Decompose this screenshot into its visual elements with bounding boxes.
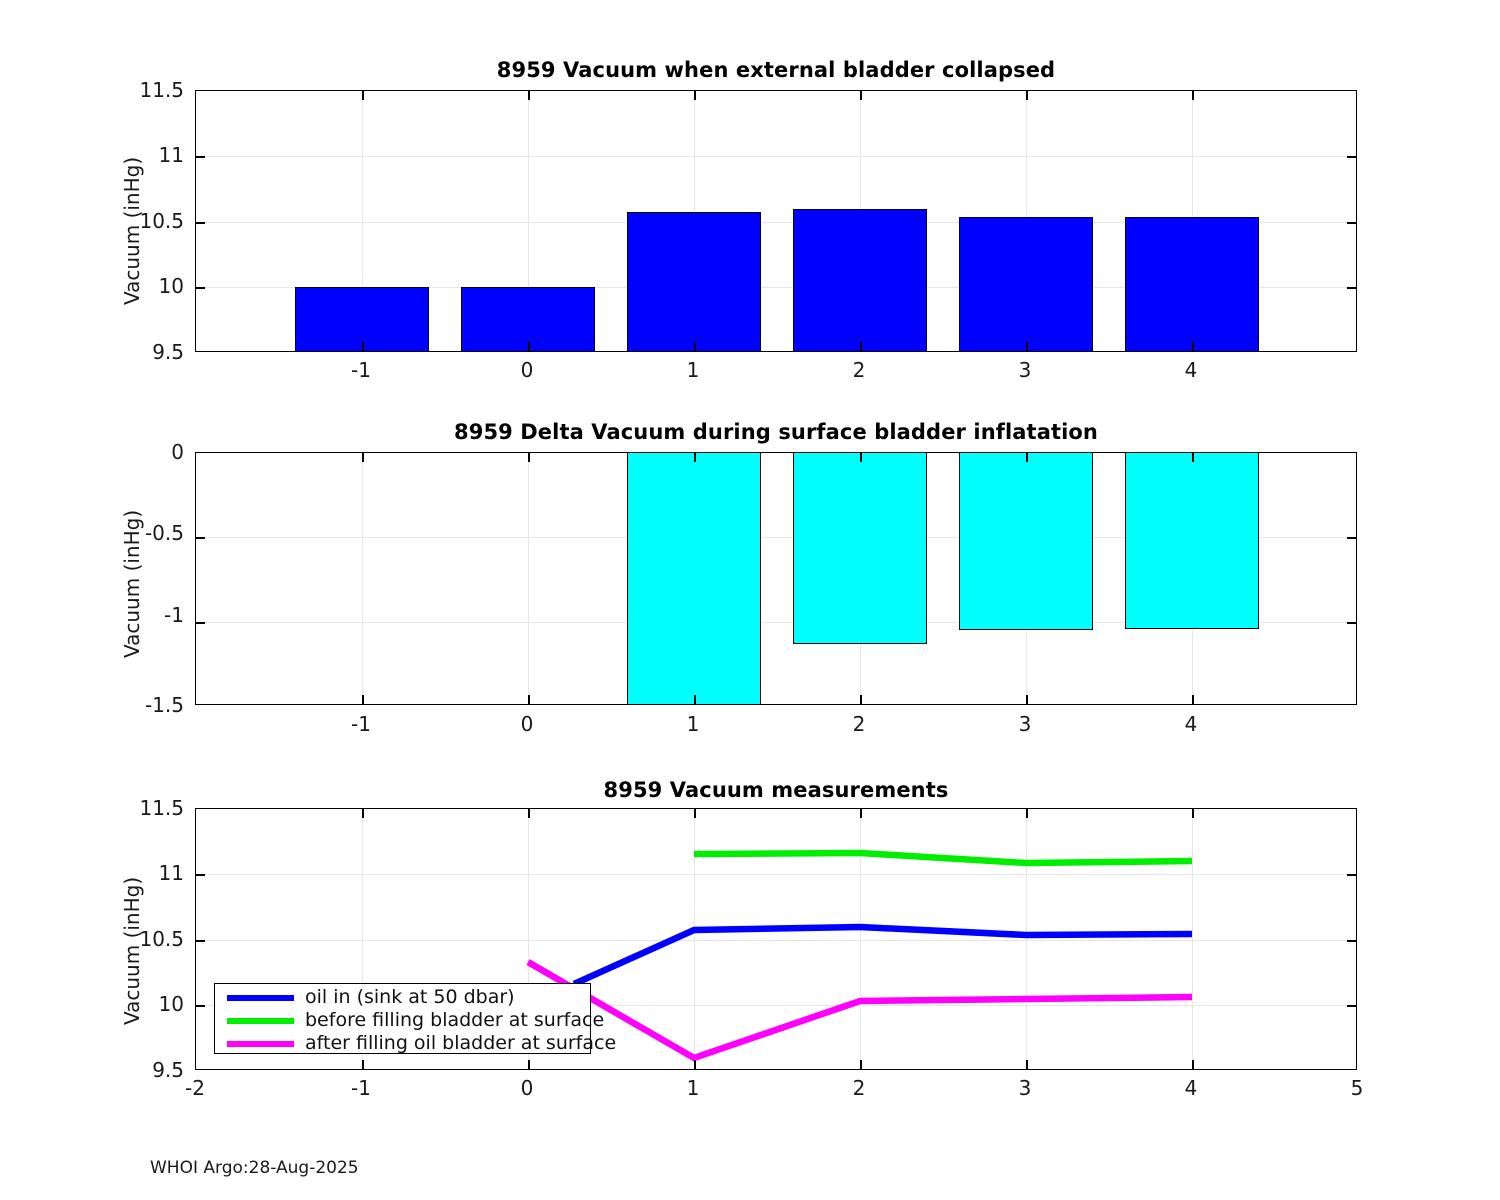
xtickmark-t-2 xyxy=(860,809,862,818)
xtickmark-t--1 xyxy=(362,809,364,818)
panel1-title: 8959 Vacuum when external bladder collap… xyxy=(195,58,1357,82)
delta-bar-2 xyxy=(793,452,927,644)
panel3-xtick-2: 2 xyxy=(819,1076,899,1100)
panel1-ytick-10.5: 10.5 xyxy=(110,209,184,233)
delta-bar-1 xyxy=(627,452,761,705)
panel1-ytick-9.5: 9.5 xyxy=(110,340,184,364)
xtickmark-t--1 xyxy=(362,91,364,100)
panel3-xtick-0: 0 xyxy=(487,1076,567,1100)
ytickmark--0.5 xyxy=(196,537,205,539)
ytickmark-11 xyxy=(196,156,205,158)
xtickmark-1 xyxy=(694,1060,696,1069)
series-magenta-after-filling xyxy=(528,962,1192,1058)
legend-swatch-magenta xyxy=(227,1041,294,1047)
xtickmark-t-0 xyxy=(528,453,530,462)
panel2-xtick-3: 3 xyxy=(985,712,1065,736)
bar-3 xyxy=(959,217,1093,352)
xtickmark-t-4 xyxy=(1192,91,1194,100)
panel2-ytick-0: 0 xyxy=(110,440,184,464)
ytickmark-r--0.5 xyxy=(1347,537,1356,539)
panel3-ytick-11.5: 11.5 xyxy=(110,796,184,820)
legend-label-after-filling: after filling oil bladder at surface xyxy=(305,1032,616,1055)
xtickmark-t-4 xyxy=(1192,453,1194,462)
panel3-ytick-10: 10 xyxy=(110,992,184,1016)
xtickmark--1 xyxy=(362,695,364,704)
xtickmark-t-0 xyxy=(528,809,530,818)
panel1-xtick-3: 3 xyxy=(985,358,1065,382)
gridline-v-0 xyxy=(528,453,529,704)
panel3-xtick-1: 1 xyxy=(653,1076,733,1100)
legend-swatch-blue xyxy=(227,995,294,1001)
bar-2 xyxy=(793,209,927,352)
legend-item-before-filling[interactable]: before filling bladder at surface xyxy=(215,1009,590,1032)
xtickmark-t-0 xyxy=(528,91,530,100)
panel2-xtick-1: 1 xyxy=(653,712,733,736)
xtickmark-4 xyxy=(1192,342,1194,351)
panel2-xtick-2: 2 xyxy=(819,712,899,736)
delta-bar-3 xyxy=(959,452,1093,630)
xtickmark--1 xyxy=(362,1060,364,1069)
legend-swatch-green xyxy=(227,1018,294,1024)
ytickmark-10 xyxy=(196,287,205,289)
series-blue-oil-in xyxy=(574,927,1192,984)
xtickmark-t-1 xyxy=(694,91,696,100)
xtickmark-t-1 xyxy=(694,809,696,818)
xtickmark-4 xyxy=(1192,695,1194,704)
panel2-xtick--1: -1 xyxy=(321,712,401,736)
xtickmark-t-3 xyxy=(1026,91,1028,100)
ytickmark--1 xyxy=(196,622,205,624)
panel3-xtick--1: -1 xyxy=(321,1076,401,1100)
xtickmark-t-2 xyxy=(860,453,862,462)
bar-4 xyxy=(1125,217,1259,352)
panel1-xtick-2: 2 xyxy=(819,358,899,382)
panel3-xtick--2: -2 xyxy=(155,1076,235,1100)
xtickmark-3 xyxy=(1026,342,1028,351)
xtickmark-t-2 xyxy=(860,91,862,100)
panel2-ytick--1: -1 xyxy=(110,603,184,627)
legend-item-after-filling[interactable]: after filling oil bladder at surface xyxy=(215,1032,590,1055)
panel1-xtick--1: -1 xyxy=(321,358,401,382)
ytickmark-r-10 xyxy=(1347,287,1356,289)
panel1-xtick-1: 1 xyxy=(653,358,733,382)
ytickmark-r-10.5 xyxy=(1347,222,1356,224)
panel3-xtick-4: 4 xyxy=(1151,1076,1231,1100)
panel3-axes: oil in (sink at 50 dbar) before filling … xyxy=(195,808,1357,1070)
panel1-axes xyxy=(195,90,1357,352)
xtickmark-1 xyxy=(694,342,696,351)
legend-label-oil-in: oil in (sink at 50 dbar) xyxy=(305,986,515,1009)
gridline-v--1 xyxy=(362,453,363,704)
ytickmark-10.5 xyxy=(196,222,205,224)
xtickmark-0 xyxy=(528,695,530,704)
ytickmark-10 xyxy=(196,1005,205,1007)
xtickmark-0 xyxy=(528,1060,530,1069)
legend-label-before-filling: before filling bladder at surface xyxy=(305,1009,604,1032)
xtickmark-3 xyxy=(1026,695,1028,704)
xtickmark-t--1 xyxy=(362,453,364,462)
series-green-before-filling xyxy=(694,853,1192,863)
matlab-figure: 8959 Vacuum when external bladder collap… xyxy=(0,0,1500,1200)
xtickmark-3 xyxy=(1026,1060,1028,1069)
figure-footer: WHOI Argo:28-Aug-2025 xyxy=(150,1158,359,1178)
panel1-xtick-0: 0 xyxy=(487,358,567,382)
panel3-ytick-11: 11 xyxy=(110,861,184,885)
panel3-ytick-10.5: 10.5 xyxy=(110,927,184,951)
xtickmark-2 xyxy=(860,695,862,704)
panel1-xtick-4: 4 xyxy=(1151,358,1231,382)
xtickmark-t-3 xyxy=(1026,809,1028,818)
xtickmark-t-1 xyxy=(694,453,696,462)
panel1-ytick-10: 10 xyxy=(110,274,184,298)
ytickmark-r-11 xyxy=(1347,156,1356,158)
xtickmark--1 xyxy=(362,342,364,351)
panel2-xtick-4: 4 xyxy=(1151,712,1231,736)
panel2-title: 8959 Delta Vacuum during surface bladder… xyxy=(195,420,1357,444)
xtickmark-2 xyxy=(860,342,862,351)
xtickmark-t-4 xyxy=(1192,809,1194,818)
panel2-ytick--1.5: -1.5 xyxy=(110,693,184,717)
xtickmark-4 xyxy=(1192,1060,1194,1069)
xtickmark-2 xyxy=(860,1060,862,1069)
legend-item-oil-in[interactable]: oil in (sink at 50 dbar) xyxy=(215,986,590,1009)
ytickmark-10.5 xyxy=(196,940,205,942)
panel2-ytick--0.5: -0.5 xyxy=(110,521,184,545)
panel3-title: 8959 Vacuum measurements xyxy=(195,778,1357,802)
panel2-axes xyxy=(195,452,1357,705)
xtickmark-t-3 xyxy=(1026,453,1028,462)
panel3-xtick-5: 5 xyxy=(1317,1076,1397,1100)
ytickmark-r-10 xyxy=(1347,1005,1356,1007)
ytickmark-11 xyxy=(196,874,205,876)
legend[interactable]: oil in (sink at 50 dbar) before filling … xyxy=(214,983,591,1054)
ytickmark-r-10.5 xyxy=(1347,940,1356,942)
ytickmark-r-11 xyxy=(1347,874,1356,876)
panel2-xtick-0: 0 xyxy=(487,712,567,736)
panel3-xtick-3: 3 xyxy=(985,1076,1065,1100)
ytickmark-r--1 xyxy=(1347,622,1356,624)
panel1-ytick-11: 11 xyxy=(110,143,184,167)
xtickmark-1 xyxy=(694,695,696,704)
panel1-ytick-11.5: 11.5 xyxy=(110,78,184,102)
xtickmark-0 xyxy=(528,342,530,351)
bar-1 xyxy=(627,212,761,352)
gridline-h-11 xyxy=(196,156,1356,157)
delta-bar-4 xyxy=(1125,452,1259,629)
